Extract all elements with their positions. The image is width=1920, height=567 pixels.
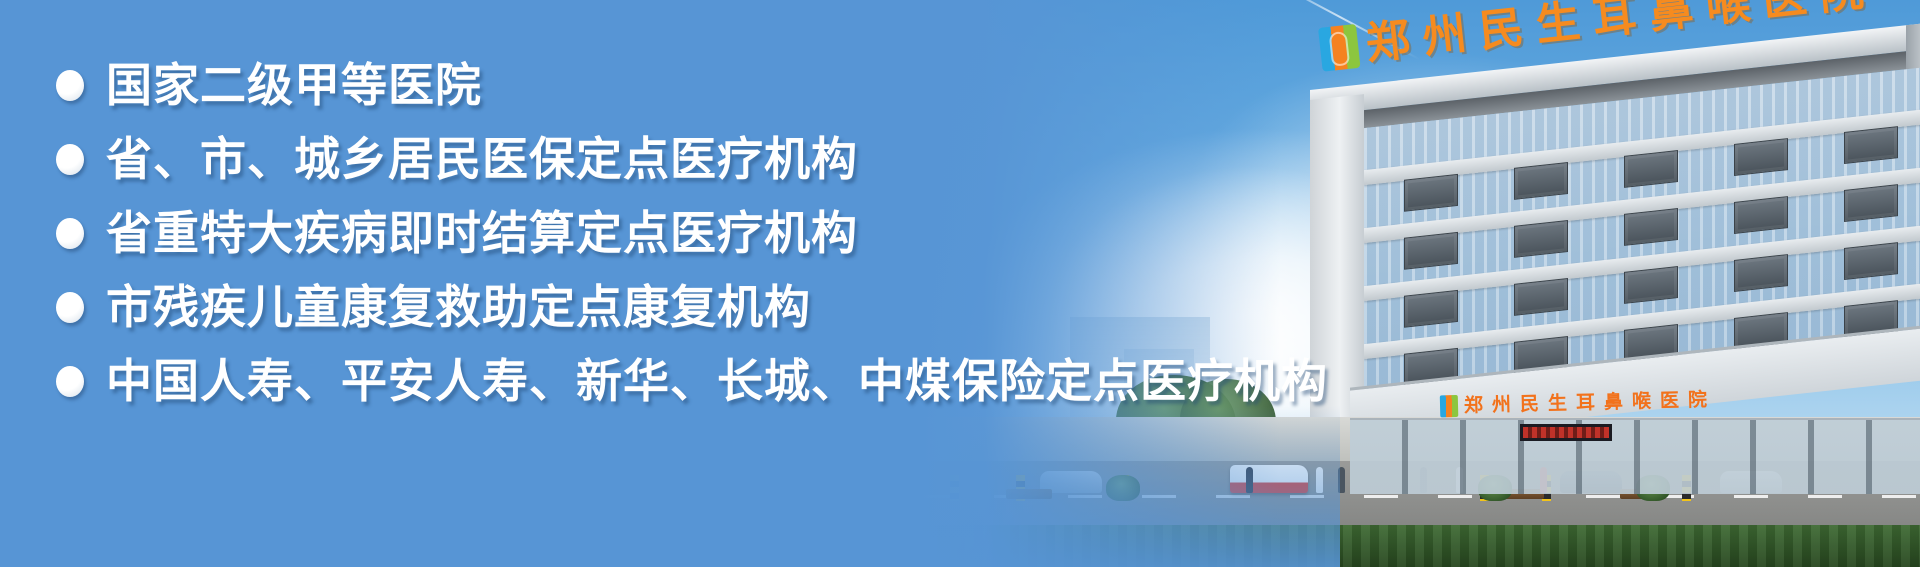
ac-unit	[1844, 184, 1898, 222]
ac-unit	[1404, 174, 1458, 212]
bullet-dot-icon	[56, 70, 84, 101]
qualification-text: 市残疾儿童康复救助定点康复机构	[106, 284, 811, 330]
list-item: 市残疾儿童康复救助定点康复机构	[56, 270, 1300, 344]
list-item: 国家二级甲等医院	[56, 48, 1300, 122]
ac-unit	[1624, 150, 1678, 188]
bullet-dot-icon	[56, 144, 84, 175]
ac-unit	[1514, 162, 1568, 200]
pedestrian	[1316, 467, 1323, 493]
ac-unit	[1844, 126, 1898, 164]
ac-unit	[1624, 266, 1678, 304]
ac-unit	[1844, 242, 1898, 280]
hospital-qualification-banner: 郑州民生耳鼻喉医院	[0, 0, 1920, 567]
hospital-logo-icon	[1318, 24, 1361, 72]
qualification-list: 国家二级甲等医院 省、市、城乡居民医保定点医疗机构 省重特大疾病即时结算定点医疗…	[0, 0, 1300, 567]
list-item: 省、市、城乡居民医保定点医疗机构	[56, 122, 1300, 196]
facade-sign-text: 郑州民生耳鼻喉医院	[1464, 390, 1716, 415]
qualification-text: 中国人寿、平安人寿、新华、长城、中煤保险定点医疗机构	[106, 358, 1328, 404]
pedestrian	[1338, 467, 1345, 493]
hospital-logo-icon	[1440, 395, 1459, 417]
led-scrolling-board	[1520, 424, 1612, 441]
ac-unit	[1404, 232, 1458, 270]
ac-unit	[1734, 254, 1788, 292]
bullet-dot-icon	[56, 292, 84, 323]
qualification-text: 省、市、城乡居民医保定点医疗机构	[106, 136, 858, 182]
qualification-text: 省重特大疾病即时结算定点医疗机构	[106, 210, 858, 256]
list-item: 中国人寿、平安人寿、新华、长城、中煤保险定点医疗机构	[56, 344, 1300, 418]
ac-unit	[1514, 220, 1568, 258]
ac-unit	[1404, 290, 1458, 328]
bullet-dot-icon	[56, 218, 84, 249]
qualification-text: 国家二级甲等医院	[106, 62, 482, 108]
hospital-entrance-glass-doors	[1350, 418, 1920, 494]
ac-unit	[1624, 208, 1678, 246]
bullet-dot-icon	[56, 366, 84, 397]
ac-unit	[1734, 196, 1788, 234]
ac-unit	[1734, 138, 1788, 176]
list-item: 省重特大疾病即时结算定点医疗机构	[56, 196, 1300, 270]
ac-unit	[1514, 278, 1568, 316]
